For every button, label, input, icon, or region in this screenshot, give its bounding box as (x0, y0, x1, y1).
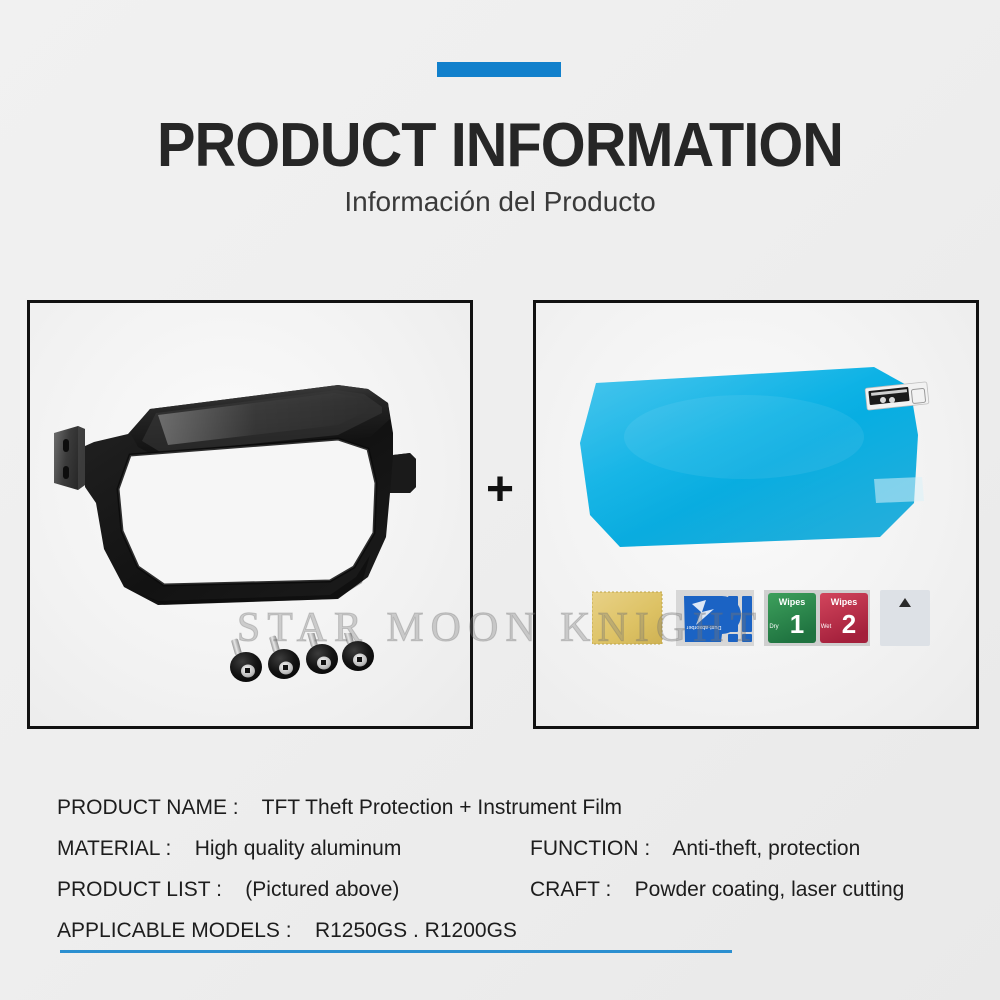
spec-label: APPLICABLE MODELS : (57, 919, 292, 942)
svg-text:Wipes: Wipes (831, 597, 857, 607)
film-pull-tab (874, 477, 924, 503)
svg-text:Wipes: Wipes (779, 597, 805, 607)
product-panel-frame (27, 300, 473, 729)
footer-rule (60, 950, 732, 953)
tft-frame-illustration (38, 363, 462, 623)
mounting-tab (54, 426, 85, 490)
accessory-microfiber-cloth (592, 592, 662, 644)
bolt-item (268, 635, 300, 679)
page-title: PRODUCT INFORMATION (35, 110, 965, 181)
page-background: PRODUCT INFORMATION Información del Prod… (0, 0, 1000, 1000)
spec-row: PRODUCT NAME : TFT Theft Protection + In… (57, 796, 957, 837)
screen-film-image (574, 361, 942, 561)
bolt-item (230, 638, 262, 682)
screen-film-illustration (574, 361, 942, 561)
specification-list: PRODUCT NAME : TFT Theft Protection + In… (57, 796, 957, 960)
accessory-dust-absorber: Dust-absorber (676, 590, 754, 646)
product-panel-film: Dust-absorber Wipes 1 Dry Wipes (533, 300, 979, 729)
frame-aperture (118, 439, 376, 585)
spec-label: PRODUCT LIST : (57, 878, 222, 901)
svg-text:Dry: Dry (769, 624, 778, 630)
spec-value: High quality aluminum (195, 837, 402, 860)
header-accent-bar (437, 62, 561, 77)
spec-row: MATERIAL : High quality aluminum FUNCTIO… (57, 837, 957, 878)
accessory-kit-illustration: Dust-absorber Wipes 1 Dry Wipes (592, 586, 932, 648)
spec-value: Anti-theft, protection (672, 837, 860, 860)
accessory-squeegee-card (880, 590, 930, 646)
spec-value: R1250GS . R1200GS (315, 919, 517, 942)
bolt-set (226, 633, 386, 693)
spec-applicable-models: APPLICABLE MODELS : R1250GS . R1200GS (57, 919, 517, 943)
plus-separator: + (478, 466, 522, 514)
svg-text:Dust-absorber: Dust-absorber (686, 624, 721, 630)
spec-material: MATERIAL : High quality aluminum (57, 837, 401, 861)
spec-product-name: PRODUCT NAME : TFT Theft Protection + In… (57, 796, 622, 820)
spec-function: FUNCTION : Anti-theft, protection (530, 837, 860, 861)
spec-product-list: PRODUCT LIST : (Pictured above) (57, 878, 399, 902)
spec-value: (Pictured above) (245, 878, 399, 901)
svg-text:1: 1 (790, 609, 804, 639)
spec-value: TFT Theft Protection + Instrument Film (262, 796, 622, 819)
spec-craft: CRAFT : Powder coating, laser cutting (530, 878, 904, 902)
tft-frame-image (38, 363, 462, 623)
accessory-kit: Dust-absorber Wipes 1 Dry Wipes (592, 586, 932, 648)
spec-row: APPLICABLE MODELS : R1250GS . R1200GS (57, 919, 957, 960)
svg-text:2: 2 (842, 609, 856, 639)
bolt-item (342, 633, 374, 671)
spec-label: MATERIAL : (57, 837, 171, 860)
accessory-wipe-packets: Wipes 1 Dry Wipes 2 Wet (764, 590, 870, 646)
spec-value: Powder coating, laser cutting (635, 878, 905, 901)
spec-row: PRODUCT LIST : (Pictured above) CRAFT : … (57, 878, 957, 919)
svg-text:Wet: Wet (821, 624, 832, 630)
bolt-set-illustration (226, 633, 386, 693)
spec-label: FUNCTION : (530, 837, 650, 860)
spec-label: PRODUCT NAME : (57, 796, 239, 819)
page-subtitle: Información del Producto (0, 186, 1000, 218)
bolt-item (306, 633, 338, 674)
spec-label: CRAFT : (530, 878, 611, 901)
